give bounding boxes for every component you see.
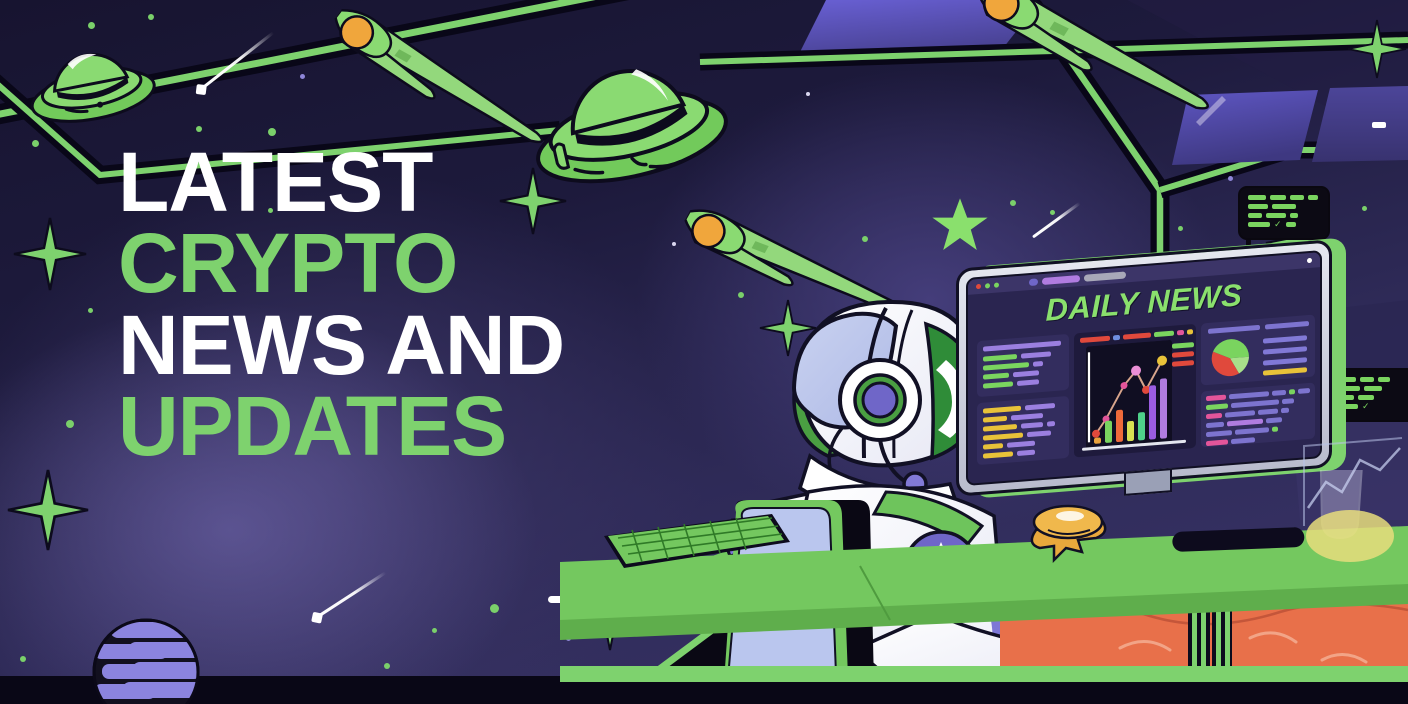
window-dot-close[interactable] — [976, 284, 981, 289]
star-dot — [300, 74, 305, 79]
code-line — [1290, 195, 1304, 200]
star-dot — [1050, 210, 1055, 215]
code-line — [1248, 195, 1266, 200]
code-line — [1364, 386, 1382, 391]
star-dot — [20, 656, 26, 662]
code-line — [1272, 204, 1296, 209]
star-dot — [490, 604, 499, 613]
terminal-row — [1248, 204, 1320, 209]
headline-line-1: LATEST — [118, 142, 718, 223]
headline-line-2: CRYPTO — [118, 223, 718, 304]
star-dot — [196, 126, 202, 132]
five-point-star-icon — [930, 196, 990, 256]
star-dot — [1362, 206, 1367, 211]
terminal-row: ✓ — [1248, 222, 1320, 227]
window-dot-menu[interactable] — [1307, 258, 1312, 263]
window-dot-max[interactable] — [994, 282, 999, 287]
right-panel-pie[interactable] — [1201, 315, 1315, 386]
pie-chart — [1209, 337, 1251, 380]
terminal-row — [1340, 377, 1406, 382]
terminal-row — [1248, 195, 1320, 200]
star-dot — [862, 236, 868, 242]
left-panel-top[interactable] — [977, 334, 1069, 397]
screen[interactable]: DAILY NEWS — [966, 250, 1322, 486]
code-line — [1266, 213, 1286, 218]
check-icon: ✓ — [1274, 222, 1282, 227]
striped-planet — [92, 618, 200, 704]
code-line — [1358, 395, 1374, 400]
star-dot — [384, 663, 390, 669]
terminal-panel-upper: ✓ — [1238, 186, 1330, 240]
chart-panel[interactable] — [1074, 324, 1196, 458]
monitor[interactable]: DAILY NEWS — [956, 248, 1342, 484]
code-line — [1308, 195, 1318, 200]
code-line — [1248, 222, 1270, 227]
check-icon: ✓ — [1362, 404, 1370, 409]
star-dot — [432, 628, 437, 633]
code-line — [1378, 377, 1390, 382]
sparkle-star-icon — [14, 218, 86, 290]
wall-chart — [1298, 430, 1408, 550]
star-dot — [66, 420, 74, 428]
headline-line-3: NEWS AND — [118, 305, 718, 386]
terminal-row — [1340, 395, 1406, 400]
terminal-row: ✓ — [1340, 404, 1406, 409]
page-title: LATEST CRYPTO NEWS AND UPDATES — [118, 142, 718, 468]
code-line — [1248, 213, 1262, 218]
star-dot — [1178, 226, 1183, 231]
terminal-row — [1340, 386, 1406, 391]
terminal-row — [1248, 213, 1320, 218]
code-line — [1286, 222, 1296, 227]
code-line — [1248, 204, 1268, 209]
star-dot — [1228, 176, 1233, 181]
star-dot — [806, 92, 810, 96]
tab-pill[interactable] — [1029, 278, 1038, 286]
star-dot — [88, 22, 95, 29]
code-line — [1290, 213, 1298, 218]
code-line — [1360, 377, 1374, 382]
address-pill[interactable] — [1084, 271, 1126, 281]
banner-illustration: LATEST CRYPTO NEWS AND UPDATES — [0, 0, 1408, 704]
sparkle-star-icon — [1348, 20, 1406, 78]
plot-area — [1078, 338, 1194, 453]
desk — [560, 470, 1408, 704]
star-dot — [148, 14, 154, 20]
sparkle-star-icon — [8, 470, 88, 550]
window-dot-min[interactable] — [985, 283, 990, 288]
star-dot — [88, 308, 93, 313]
code-line — [1270, 195, 1286, 200]
tab-pill-active[interactable] — [1042, 275, 1080, 285]
headline-line-4: UPDATES — [118, 386, 718, 467]
left-panel-bottom[interactable] — [977, 396, 1069, 465]
star-dot — [1010, 200, 1016, 206]
